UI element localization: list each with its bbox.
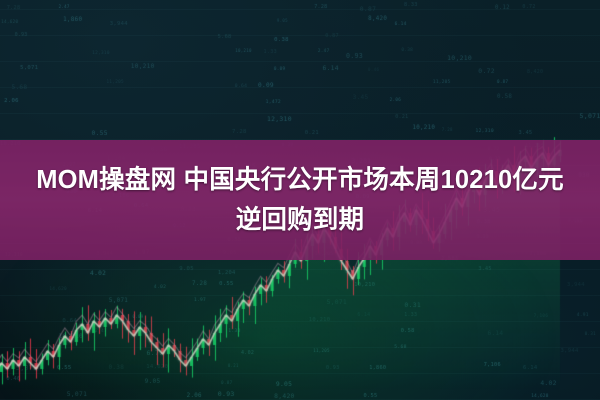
headline-line-2: 逆回购到期 <box>236 201 365 239</box>
headline-block: MOM操盘网 中国央行公开市场本周10210亿元 逆回购到期 <box>0 140 600 260</box>
promo-banner-image: 7.282.477.280.878.330.120.7214,6201,8603… <box>0 0 600 400</box>
headline-line-1: MOM操盘网 中国央行公开市场本周10210亿元 <box>36 161 564 199</box>
